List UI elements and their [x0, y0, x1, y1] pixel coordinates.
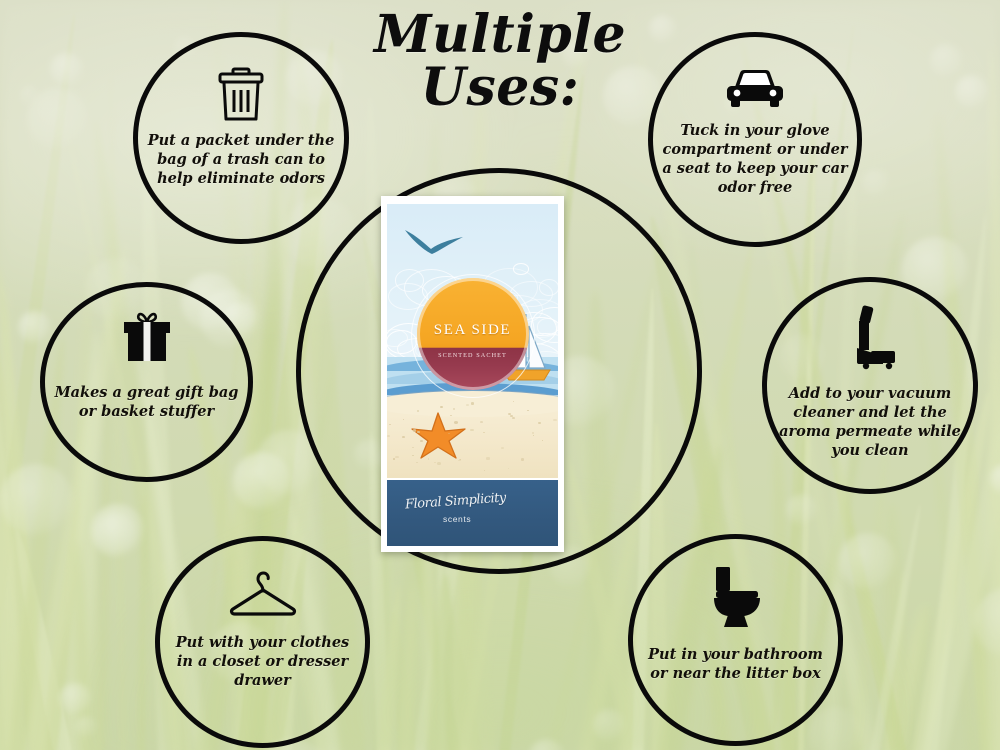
use-bubble-vacuum[interactable]: Add to your vacuum cleaner and let the a… — [762, 277, 978, 494]
scent-name: SEA SIDE — [417, 322, 529, 339]
vacuum-cleaner-icon — [839, 304, 901, 370]
title-line-1: Multiple — [374, 4, 626, 65]
use-bubble-bathroom[interactable]: Put in your bathroom or near the litter … — [628, 534, 843, 746]
toilet-icon — [706, 565, 766, 629]
use-bubble-car-text: Tuck in your glove compartment or under … — [654, 121, 856, 198]
use-bubble-gift-text: Makes a great gift bag or basket stuffer — [48, 383, 246, 421]
packet-brand-band: Floral Simplicity scents — [387, 480, 558, 546]
product-type: SCENTED SACHET — [417, 352, 529, 359]
seagull-icon — [403, 226, 467, 265]
use-bubble-closet-text: Put with your clothes in a closet or dre… — [164, 633, 362, 690]
use-bubble-car[interactable]: Tuck in your glove compartment or under … — [648, 32, 862, 247]
gift-box-icon — [119, 309, 175, 367]
car-icon — [723, 65, 787, 111]
sun-disc: SEA SIDE SCENTED SACHET — [417, 278, 529, 390]
starfish-icon — [411, 411, 467, 464]
use-bubble-vacuum-text: Add to your vacuum cleaner and let the a… — [766, 384, 974, 461]
title-line-2: Uses: — [330, 61, 670, 114]
brand-subtitle: scents — [443, 514, 471, 524]
use-bubble-trash[interactable]: Put a packet under the bag of a trash ca… — [133, 32, 349, 244]
infographic-poster: Multiple Uses: Put a packet under the ba… — [0, 0, 1000, 750]
use-bubble-bathroom-text: Put in your bathroom or near the litter … — [636, 645, 836, 683]
clothes-hanger-icon — [226, 569, 300, 619]
trash-can-icon — [215, 67, 267, 123]
page-title: Multiple Uses: — [330, 8, 670, 114]
product-packet[interactable]: SEA SIDE SCENTED SACHET Floral Simplicit… — [381, 196, 564, 552]
use-bubble-closet[interactable]: Put with your clothes in a closet or dre… — [155, 536, 370, 748]
use-bubble-trash-text: Put a packet under the bag of a trash ca… — [141, 131, 341, 188]
packet-artwork: SEA SIDE SCENTED SACHET — [387, 204, 558, 478]
sand — [387, 401, 558, 478]
brand-script-logo: Floral Simplicity — [405, 491, 507, 513]
use-bubble-gift[interactable]: Makes a great gift bag or basket stuffer — [40, 282, 253, 482]
